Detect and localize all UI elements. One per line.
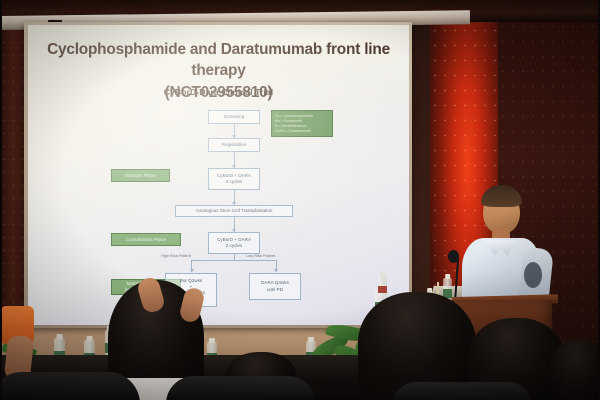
chair-back xyxy=(166,376,316,400)
abbreviation-legend: Cy = Cyclophosphamide Bor = Bortezomib D… xyxy=(271,110,333,137)
phase-label-consolidation: Consolidation Phase xyxy=(111,233,181,246)
speaker-elbow-shadow xyxy=(524,262,542,288)
water-bottle xyxy=(378,276,387,298)
flow-box-transplant: Autologous Stem Cell Transplantation xyxy=(175,205,293,217)
slide-title-line1: Cyclophosphamide and Daratumumab front l… xyxy=(34,39,403,82)
label-low-risk: Low Risk Patient xyxy=(246,253,275,258)
audience-member-head xyxy=(550,340,600,400)
flow-box-screening: Screening xyxy=(208,110,260,124)
connector-branch-bar xyxy=(191,260,276,261)
chair-back xyxy=(392,382,532,400)
label-high-risk: High Risk Patient xyxy=(161,253,191,258)
microphone-icon xyxy=(448,250,459,263)
lecture-hall-photo: Cyclophosphamide and Daratumumab front l… xyxy=(0,0,600,400)
projection-screen: Cyclophosphamide and Daratumumab front l… xyxy=(28,25,409,325)
presentation-slide: Cyclophosphamide and Daratumumab front l… xyxy=(28,25,409,325)
chair-back xyxy=(0,372,140,400)
flow-box-induction-treatment: CyBorD + DARA 4 cycles xyxy=(208,168,260,190)
phase-label-induction: Induction Phase xyxy=(111,169,170,182)
arrow-to-high-risk xyxy=(190,269,194,272)
slide-subtitle: CyBorD-Dara Clinical Trial xyxy=(28,87,409,97)
flow-box-registration: Registration xyxy=(208,138,260,152)
flow-box-consolidation-treatment: CyBorD + DARA 2 cycles xyxy=(208,232,260,254)
arrow-to-low-risk xyxy=(274,269,278,272)
flow-box-low-risk-arm: DARA Q4wks until PD xyxy=(249,273,301,300)
